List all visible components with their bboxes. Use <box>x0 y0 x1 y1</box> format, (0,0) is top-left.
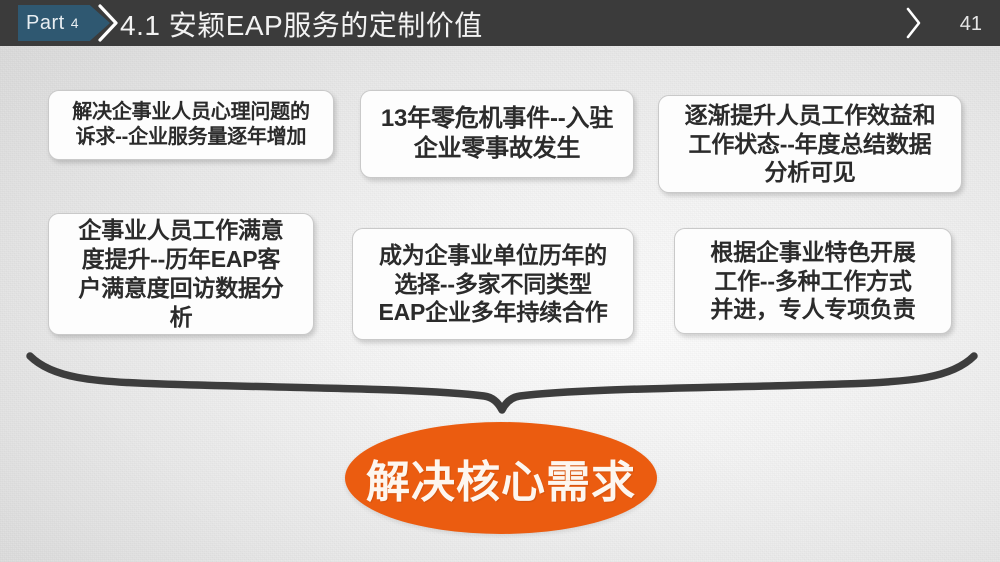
value-card-text: 企事业人员工作满意 度提升--历年EAP客 户满意度回访数据分 析 <box>78 216 283 332</box>
value-card-text: 根据企事业特色开展 工作--多种工作方式 并进，专人专项负责 <box>710 238 915 325</box>
chevron-right-icon <box>97 4 119 42</box>
value-card: 解决企事业人员心理问题的 诉求--企业服务量逐年增加 <box>48 90 334 160</box>
value-card-text: 13年零危机事件--入驻 企业零事故发生 <box>381 104 613 164</box>
value-card: 13年零危机事件--入驻 企业零事故发生 <box>360 90 634 178</box>
slide-canvas: Part 4 4.1 安颖EAP服务的定制价值 41 解决企事业人员心理问题的 … <box>0 0 1000 562</box>
value-card: 成为企事业单位历年的 选择--多家不同类型 EAP企业多年持续合作 <box>352 228 634 340</box>
value-card: 根据企事业特色开展 工作--多种工作方式 并进，专人专项负责 <box>674 228 952 334</box>
value-card-text: 成为企事业单位历年的 选择--多家不同类型 EAP企业多年持续合作 <box>378 241 607 328</box>
value-card: 逐渐提升人员工作效益和 工作状态--年度总结数据 分析可见 <box>658 95 962 193</box>
value-card: 企事业人员工作满意 度提升--历年EAP客 户满意度回访数据分 析 <box>48 213 314 335</box>
part-badge-number: 4 <box>71 15 79 31</box>
conclusion-text: 解决核心需求 <box>366 446 636 510</box>
slide-header-bar: Part 4 4.1 安颖EAP服务的定制价值 41 <box>0 0 1000 46</box>
value-card-text: 逐渐提升人员工作效益和 工作状态--年度总结数据 分析可见 <box>685 101 936 188</box>
part-badge-label: Part <box>26 12 65 35</box>
curly-brace-decoration <box>22 348 982 420</box>
chevron-right-icon-secondary <box>905 7 923 39</box>
header-inner: Part 4 4.1 安颖EAP服务的定制价值 41 <box>0 0 1000 46</box>
value-card-text: 解决企事业人员心理问题的 诉求--企业服务量逐年增加 <box>72 100 310 150</box>
conclusion-ellipse: 解决核心需求 <box>345 422 657 534</box>
page-number: 41 <box>960 3 982 45</box>
page-title: 4.1 安颖EAP服务的定制价值 <box>120 3 483 45</box>
